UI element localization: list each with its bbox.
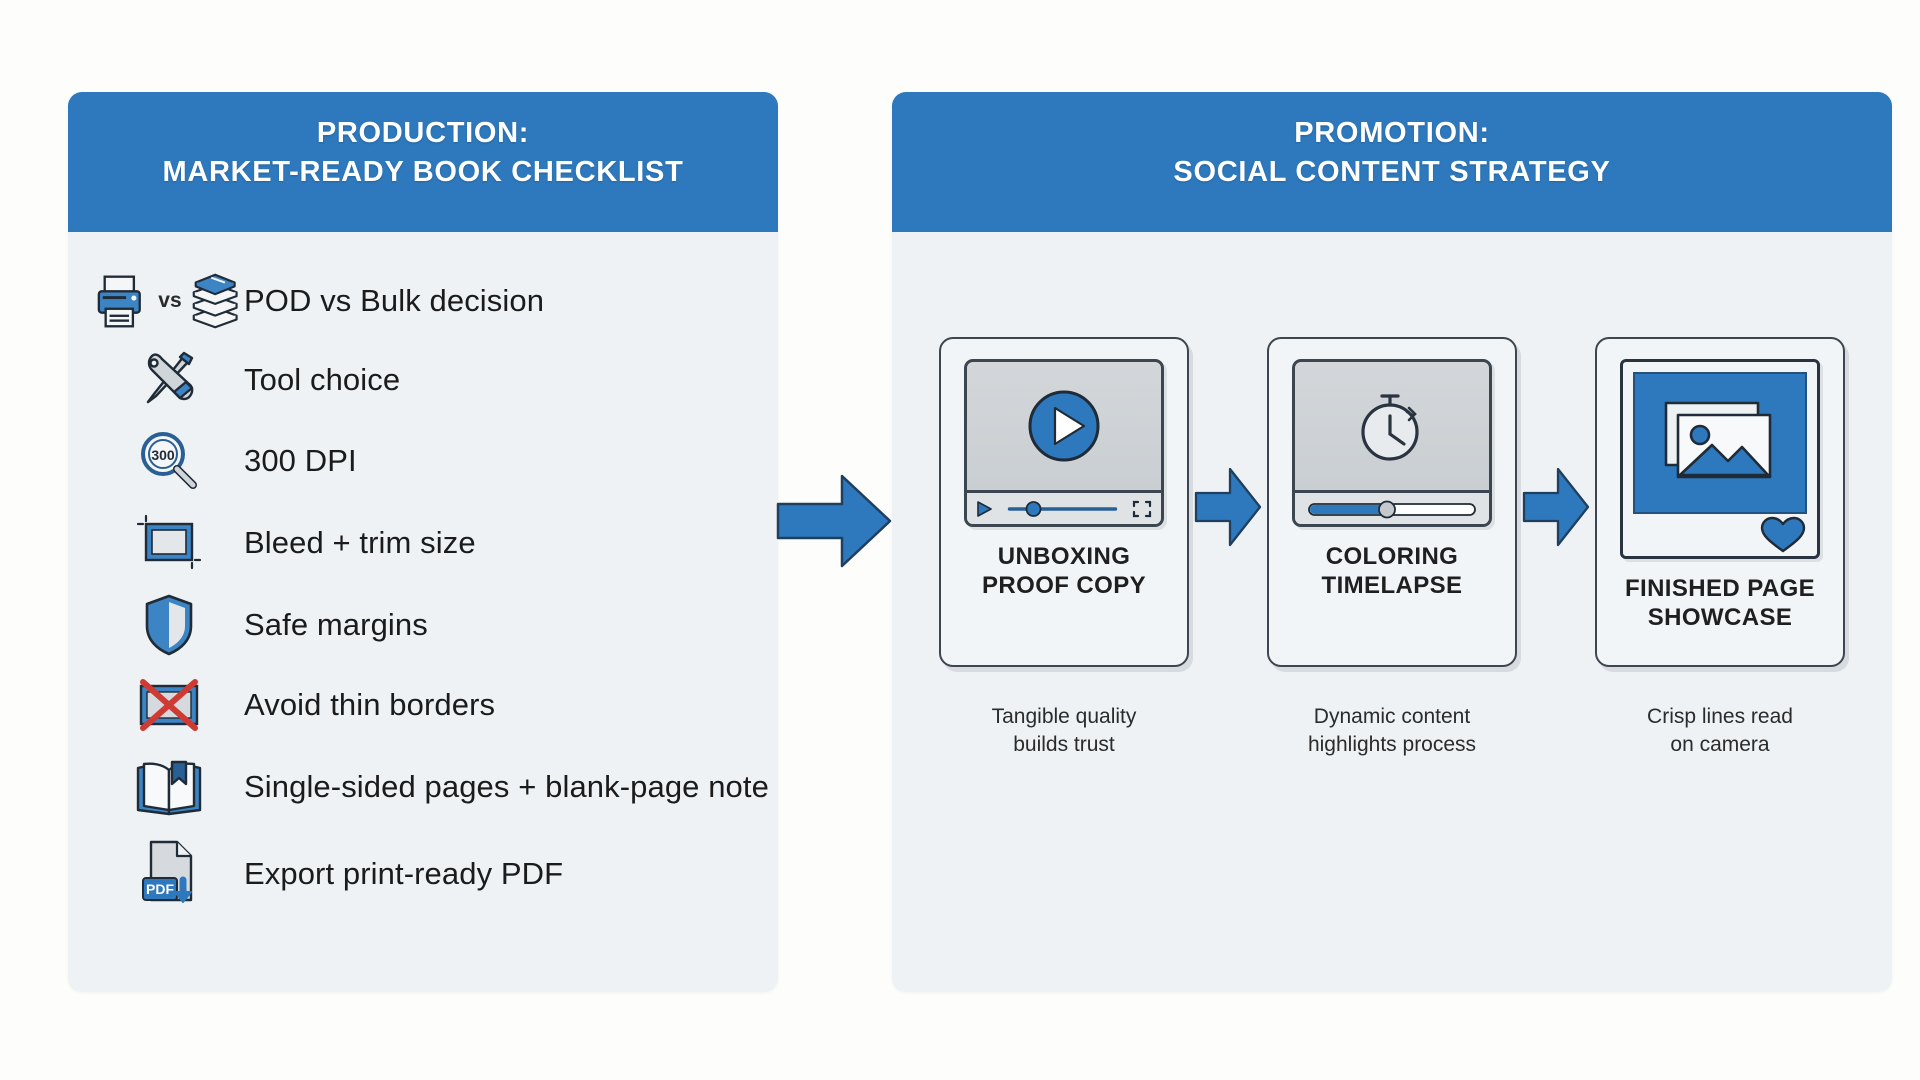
card-caption-line1: Crisp lines read — [1647, 705, 1793, 728]
card-title-line1: UNBOXING — [998, 543, 1131, 570]
checklist-item-label: Export print-ready PDF — [244, 855, 563, 894]
promotion-header: PROMOTION: SOCIAL CONTENT STRATEGY — [892, 92, 1892, 232]
timelapse-progress-bar — [1304, 499, 1480, 519]
pdf-download-icon: PDF — [94, 838, 244, 910]
printer-vs-books-icon: vs — [94, 270, 244, 332]
crop-marks-icon — [94, 510, 244, 576]
flow-arrow-2 — [1517, 337, 1595, 549]
card-title-line2: SHOWCASE — [1648, 604, 1793, 631]
checklist-item-label: Bleed + trim size — [244, 524, 476, 563]
card-caption-line2: builds trust — [1013, 733, 1115, 756]
checklist-item: Safe margins — [94, 592, 778, 658]
shield-icon — [94, 592, 244, 658]
flow-arrow-main — [776, 470, 892, 577]
card-title-line1: COLORING — [1326, 543, 1459, 570]
checklist-item-label: POD vs Bulk decision — [244, 282, 544, 321]
checklist-item: 300 300 DPI — [94, 428, 778, 494]
checklist-item: PDF Export print-ready PDF — [94, 838, 778, 910]
crossed-out-border-icon — [94, 674, 244, 736]
stopwatch-timelapse-icon — [1292, 359, 1492, 527]
open-book-icon — [94, 752, 244, 822]
card-title: UNBOXING PROOF COPY — [982, 543, 1146, 601]
production-title-line2: MARKET-READY BOOK CHECKLIST — [86, 153, 760, 192]
video-progress-bar — [1000, 500, 1125, 518]
dpi-badge-text: 300 — [151, 447, 175, 463]
card-caption: Crisp lines read on camera — [1647, 703, 1793, 758]
card-caption-line2: highlights process — [1308, 733, 1476, 756]
card-title-line2: TIMELAPSE — [1322, 572, 1463, 599]
promotion-title-line2: SOCIAL CONTENT STRATEGY — [910, 153, 1874, 192]
checklist-item-label: Tool choice — [244, 361, 400, 400]
promotion-card-unboxing: UNBOXING PROOF COPY Tangible quality bui… — [939, 337, 1189, 758]
card-caption-line2: on camera — [1670, 733, 1769, 756]
promotion-card-finished-page: FINISHED PAGE SHOWCASE Crisp lines read … — [1595, 337, 1845, 758]
checklist: vs — [68, 250, 778, 910]
panel-promotion: PROMOTION: SOCIAL CONTENT STRATEGY — [892, 92, 1892, 992]
card-frame: UNBOXING PROOF COPY — [939, 337, 1189, 667]
checklist-item-label: Avoid thin borders — [244, 686, 495, 725]
promotion-cards-row: UNBOXING PROOF COPY Tangible quality bui… — [892, 232, 1892, 758]
card-title: COLORING TIMELAPSE — [1322, 543, 1463, 601]
flow-arrow-1 — [1189, 337, 1267, 549]
checklist-item-label: Safe margins — [244, 606, 428, 645]
production-header: PRODUCTION: MARKET-READY BOOK CHECKLIST — [68, 92, 778, 232]
checklist-item-label: Single-sided pages + blank-page note — [244, 768, 769, 807]
video-player-play-icon — [964, 359, 1164, 527]
tools-icon — [94, 348, 244, 412]
vs-label: vs — [158, 289, 181, 313]
promotion-title-line1: PROMOTION: — [910, 114, 1874, 153]
photo-gallery-heart-icon — [1620, 359, 1820, 559]
card-title: FINISHED PAGE SHOWCASE — [1625, 575, 1815, 633]
play-small-icon — [976, 500, 993, 518]
card-frame: FINISHED PAGE SHOWCASE — [1595, 337, 1845, 667]
checklist-item: Avoid thin borders — [94, 674, 778, 736]
fullscreen-icon — [1132, 500, 1152, 518]
card-title-line1: FINISHED PAGE — [1625, 575, 1815, 602]
checklist-item: Bleed + trim size — [94, 510, 778, 576]
checklist-item: Single-sided pages + blank-page note — [94, 752, 778, 822]
checklist-item: Tool choice — [94, 348, 778, 412]
heart-icon — [1759, 515, 1807, 555]
panel-production: PRODUCTION: MARKET-READY BOOK CHECKLIST — [68, 92, 778, 992]
card-frame: COLORING TIMELAPSE — [1267, 337, 1517, 667]
card-caption-line1: Tangible quality — [992, 705, 1137, 728]
card-caption: Dynamic content highlights process — [1308, 703, 1476, 758]
pdf-badge-text: PDF — [146, 881, 174, 897]
diagram-canvas: PRODUCTION: MARKET-READY BOOK CHECKLIST — [0, 0, 1920, 1080]
magnifier-300-icon: 300 — [94, 428, 244, 494]
checklist-item: vs — [94, 270, 778, 332]
card-caption-line1: Dynamic content — [1314, 705, 1470, 728]
promotion-card-coloring: COLORING TIMELAPSE Dynamic content highl… — [1267, 337, 1517, 758]
card-caption: Tangible quality builds trust — [992, 703, 1137, 758]
production-body: vs — [68, 232, 778, 910]
production-title-line1: PRODUCTION: — [86, 114, 760, 153]
checklist-item-label: 300 DPI — [244, 442, 357, 481]
card-title-line2: PROOF COPY — [982, 572, 1146, 599]
